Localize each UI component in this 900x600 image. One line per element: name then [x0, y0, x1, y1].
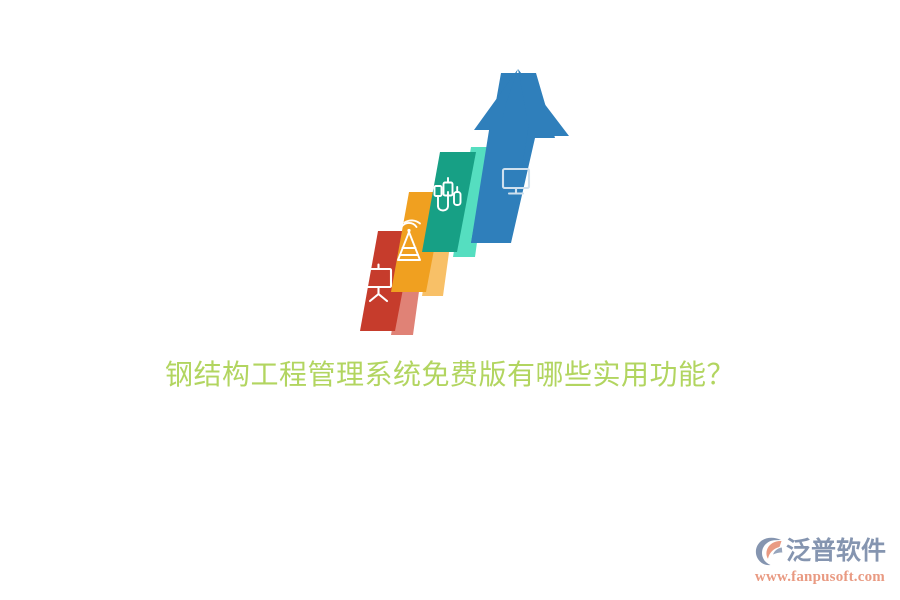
- growth-arrow-infographic: [330, 60, 590, 350]
- brand-url: www.fanpusoft.com: [754, 568, 886, 586]
- banner-canvas: 钢结构工程管理系统免费版有哪些实用功能？ 泛普软件 www.fanpusoft.…: [0, 0, 900, 600]
- brand-name: 泛普软件: [786, 536, 886, 566]
- bar-4-blue-arrow: [471, 69, 569, 243]
- brand-watermark: 泛普软件 www.fanpusoft.com: [754, 534, 886, 590]
- fanpu-swirl-logo-icon: [754, 536, 784, 566]
- brand-lockup: 泛普软件: [754, 534, 886, 568]
- page-title: 钢结构工程管理系统免费版有哪些实用功能？: [0, 355, 900, 395]
